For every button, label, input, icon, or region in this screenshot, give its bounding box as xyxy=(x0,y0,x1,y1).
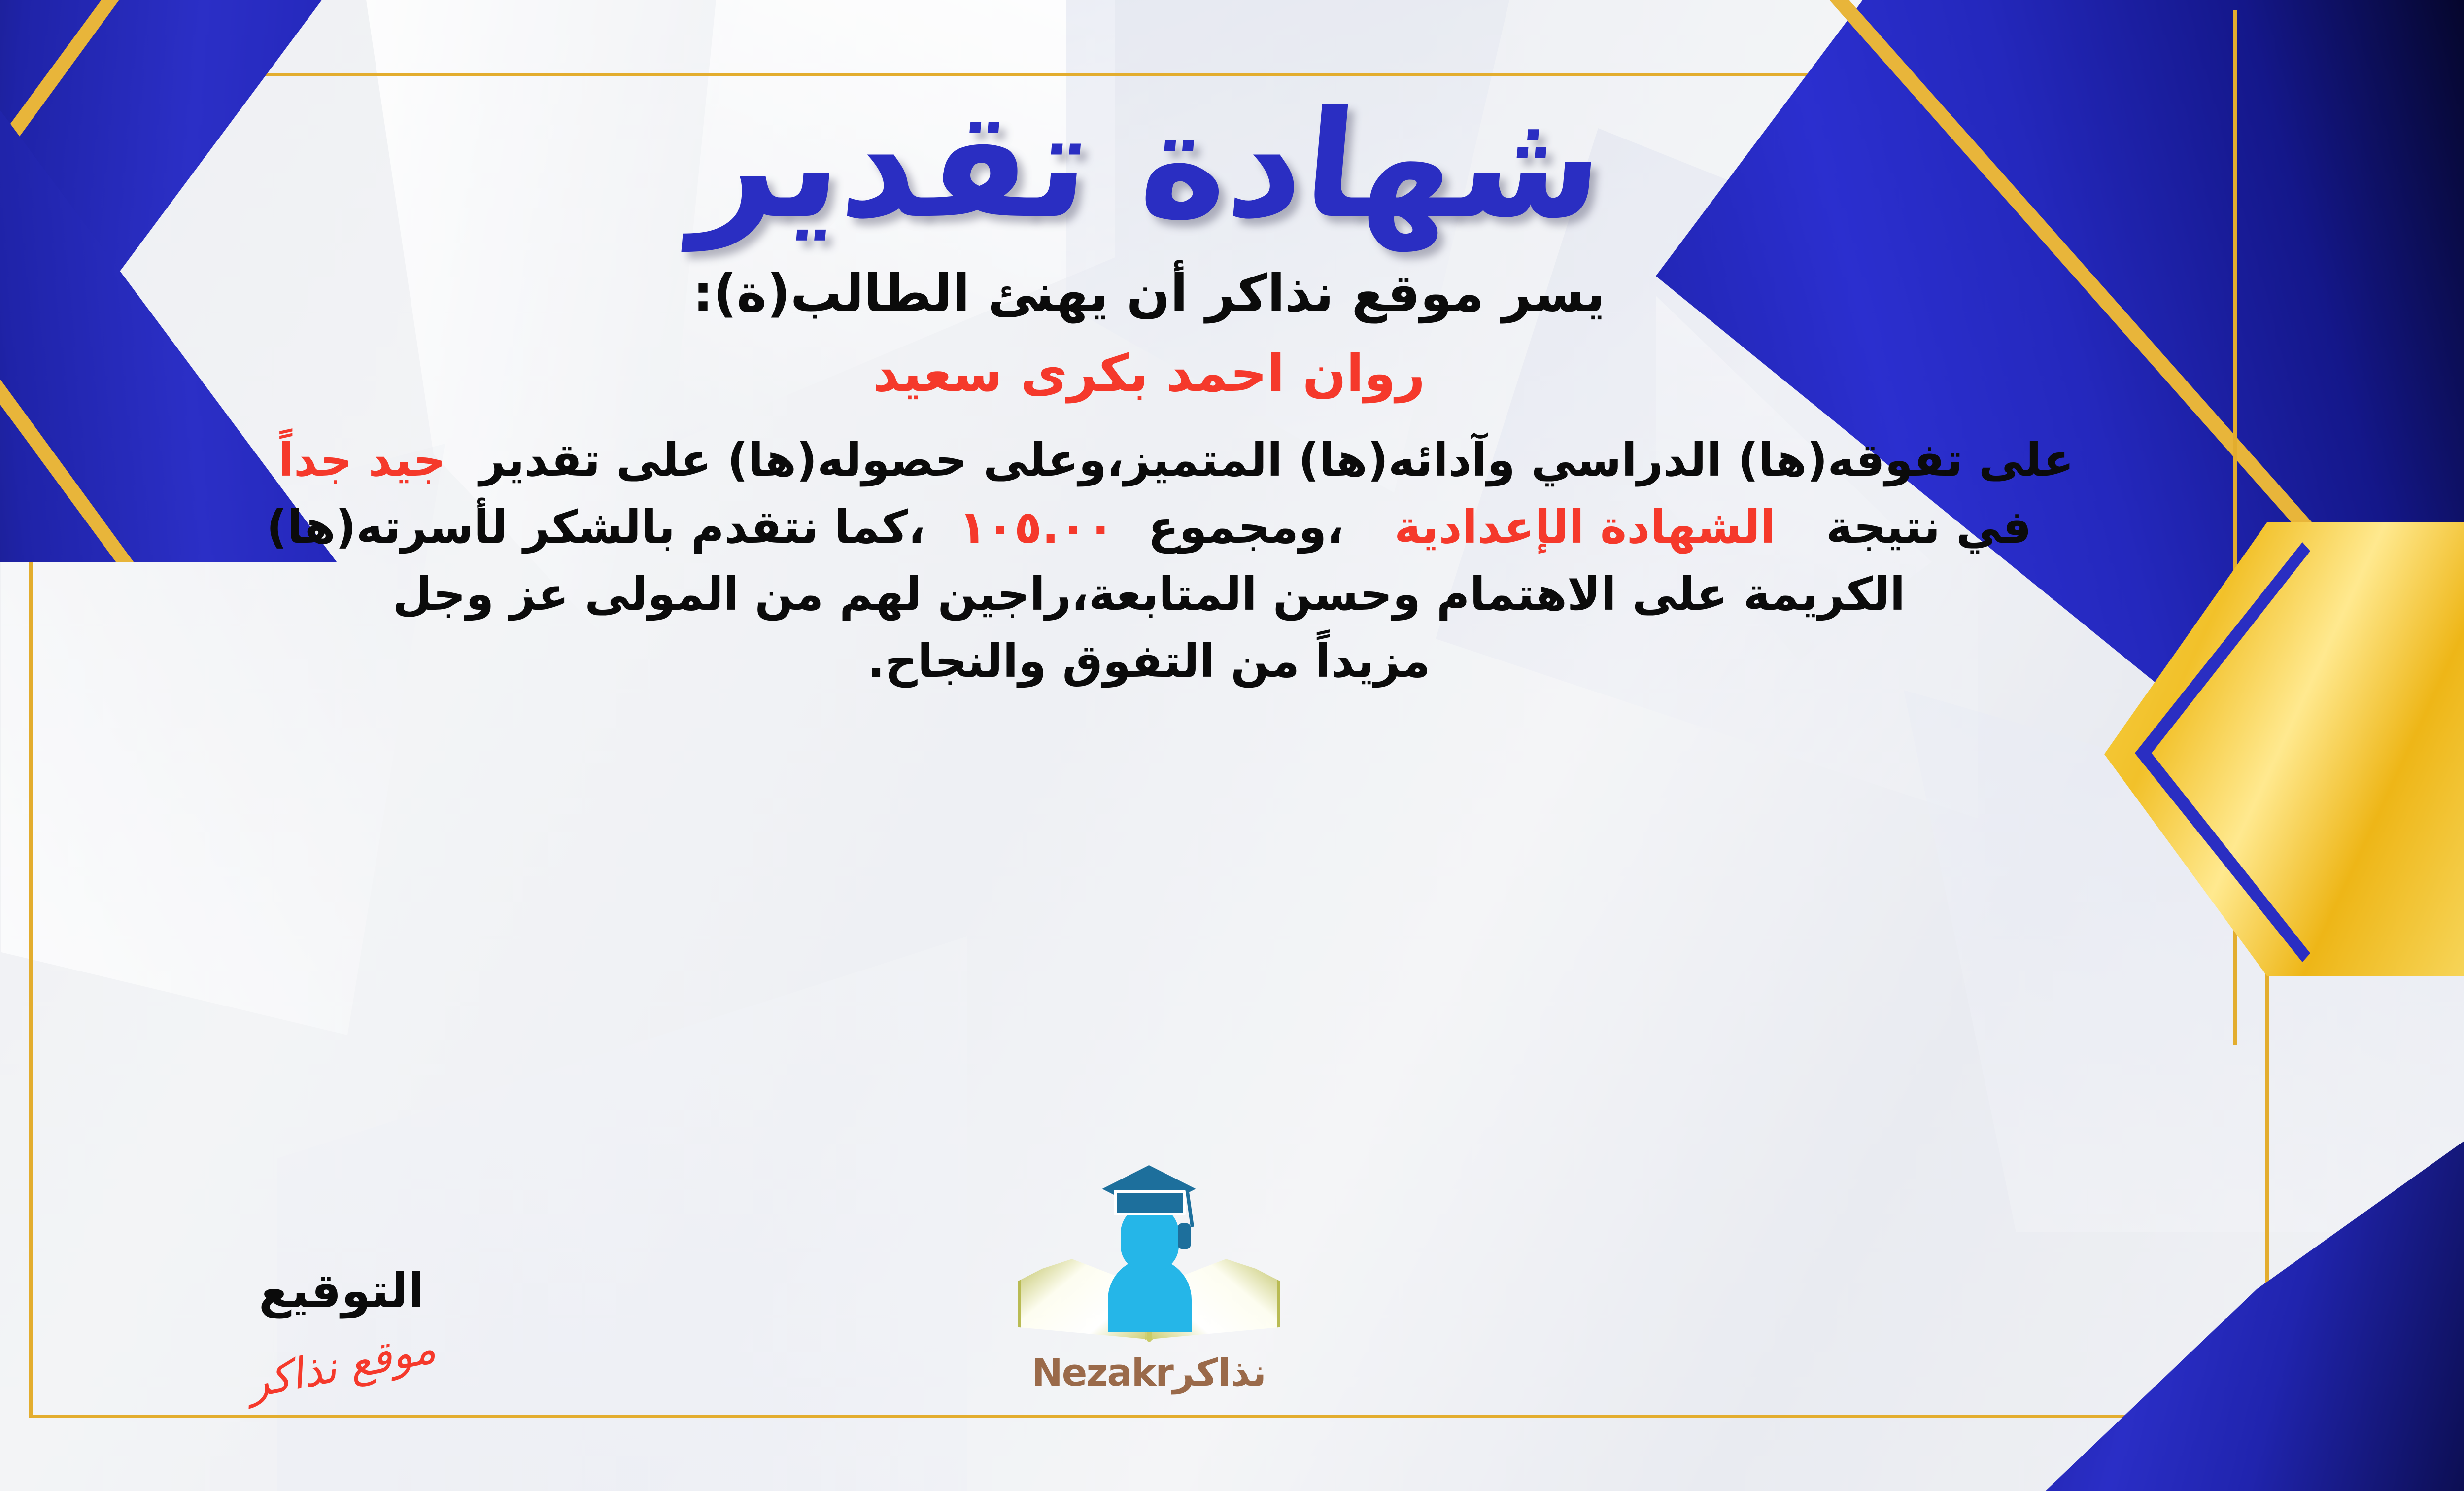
certificate-body: على تفوقه(ها) الدراسي وآدائه(ها) المتميز… xyxy=(90,427,2208,695)
signature-label: التوقيع xyxy=(169,1263,514,1318)
signature-block: التوقيع موقع نذاكر xyxy=(169,1263,514,1390)
body-line4: مزيداً من التفوق والنجاح. xyxy=(154,628,2144,695)
certificate-content: شهادة تقدير يسر موقع نذاكر أن يهنئ الطال… xyxy=(90,79,2208,1412)
tassel-icon xyxy=(1178,1223,1191,1249)
student-name: روان احمد بكرى سعيد xyxy=(90,343,2208,403)
certificate-canvas: شهادة تقدير يسر موقع نذاكر أن يهنئ الطال… xyxy=(0,0,2464,1491)
body-line2-suffix: ،كما نتقدم بالشكر لأسرته(ها) xyxy=(267,501,925,554)
site-logo: نذاكرNezakr xyxy=(977,1161,1322,1394)
body-line1-text: على تفوقه(ها) الدراسي وآدائه(ها) المتميز… xyxy=(479,434,2074,486)
logo-wordmark: نذاكرNezakr xyxy=(977,1351,1322,1394)
body-line3: الكريمة على الاهتمام وحسن المتابعة،راجين… xyxy=(154,561,2144,628)
total-score-value: ١٠٥.٠٠ xyxy=(959,501,1115,554)
body-line2-prefix: في نتيجة xyxy=(1826,501,2031,554)
certificate-footer: التوقيع موقع نذاكر نذاكرNezakr xyxy=(90,1118,2208,1394)
graduate-book-logo-icon xyxy=(1011,1161,1287,1349)
congratulation-line: يسر موقع نذاكر أن يهنئ الطالب(ة): xyxy=(90,263,2208,323)
mortarboard-band-icon xyxy=(1114,1190,1186,1215)
certificate-title: شهادة تقدير xyxy=(84,90,2215,241)
signature-mark: موقع نذاكر xyxy=(243,1323,440,1408)
certificate-type-value: الشهادة الإعدادية xyxy=(1394,501,1776,554)
grade-value: جيد جداً xyxy=(278,434,445,486)
body-line2-total-label: ،ومجموع xyxy=(1148,501,1344,554)
